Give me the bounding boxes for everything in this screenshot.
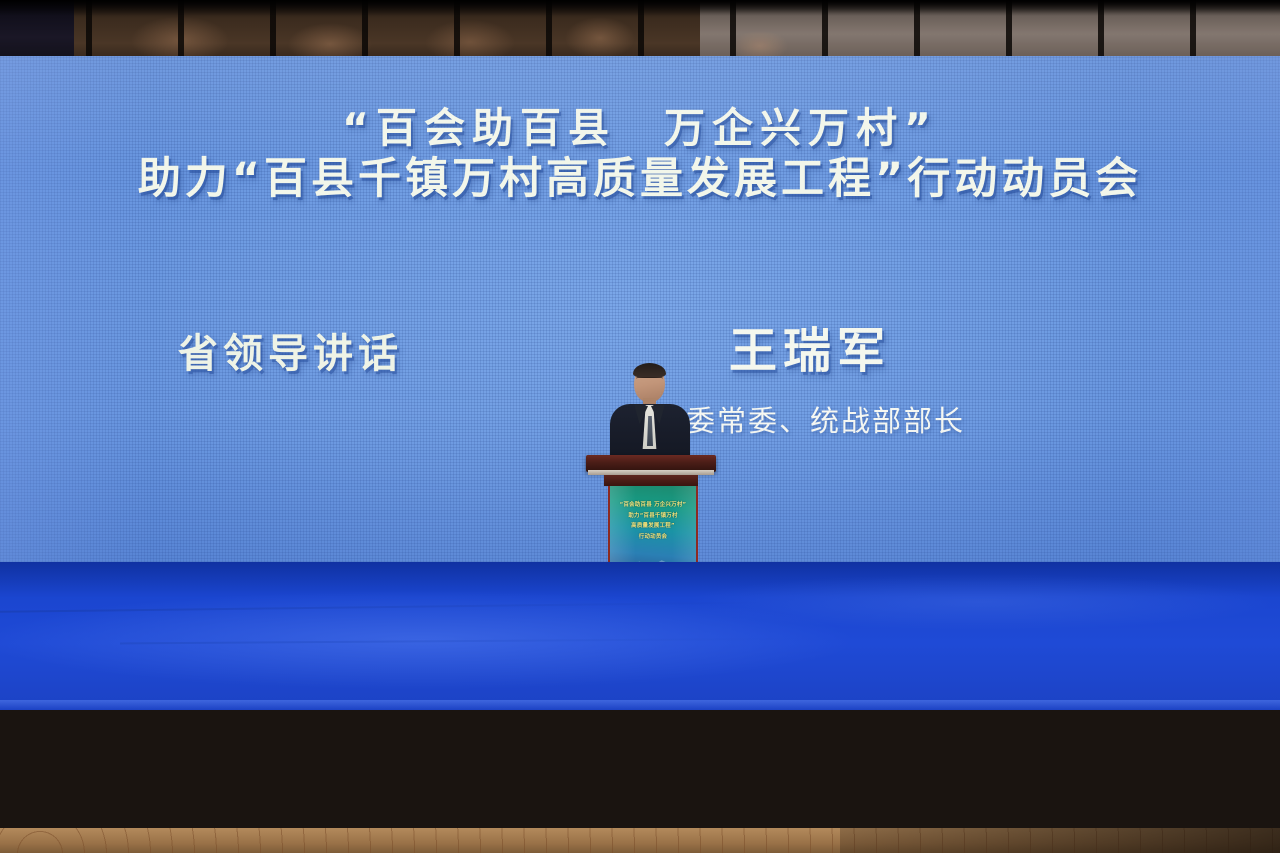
screen-title-line-2: 助力“百县千镇万村高质量发展工程”行动动员会 bbox=[0, 152, 1280, 208]
speaker-hair bbox=[633, 363, 666, 378]
stage-floor-sheen bbox=[0, 562, 1280, 710]
ceiling-top-shadow bbox=[0, 0, 1280, 16]
venue-carpet-shadow bbox=[840, 828, 1280, 853]
conference-stage-photo: “百会助百县 万企兴万村” 助力“百县千镇万村高质量发展工程”行动动员会 省领导… bbox=[0, 0, 1280, 853]
screen-title-line-1: “百会助百县 万企兴万村” bbox=[0, 104, 1280, 152]
stage-front-skirt bbox=[0, 700, 1280, 830]
screen-title-block: “百会助百县 万企兴万村” 助力“百县千镇万村高质量发展工程”行动动员会 bbox=[0, 104, 1280, 208]
podium-neck bbox=[604, 475, 698, 486]
speaker-glasses bbox=[636, 377, 663, 385]
ceiling-decorative-border bbox=[0, 0, 1280, 62]
stage-front-highlight bbox=[0, 700, 1280, 710]
